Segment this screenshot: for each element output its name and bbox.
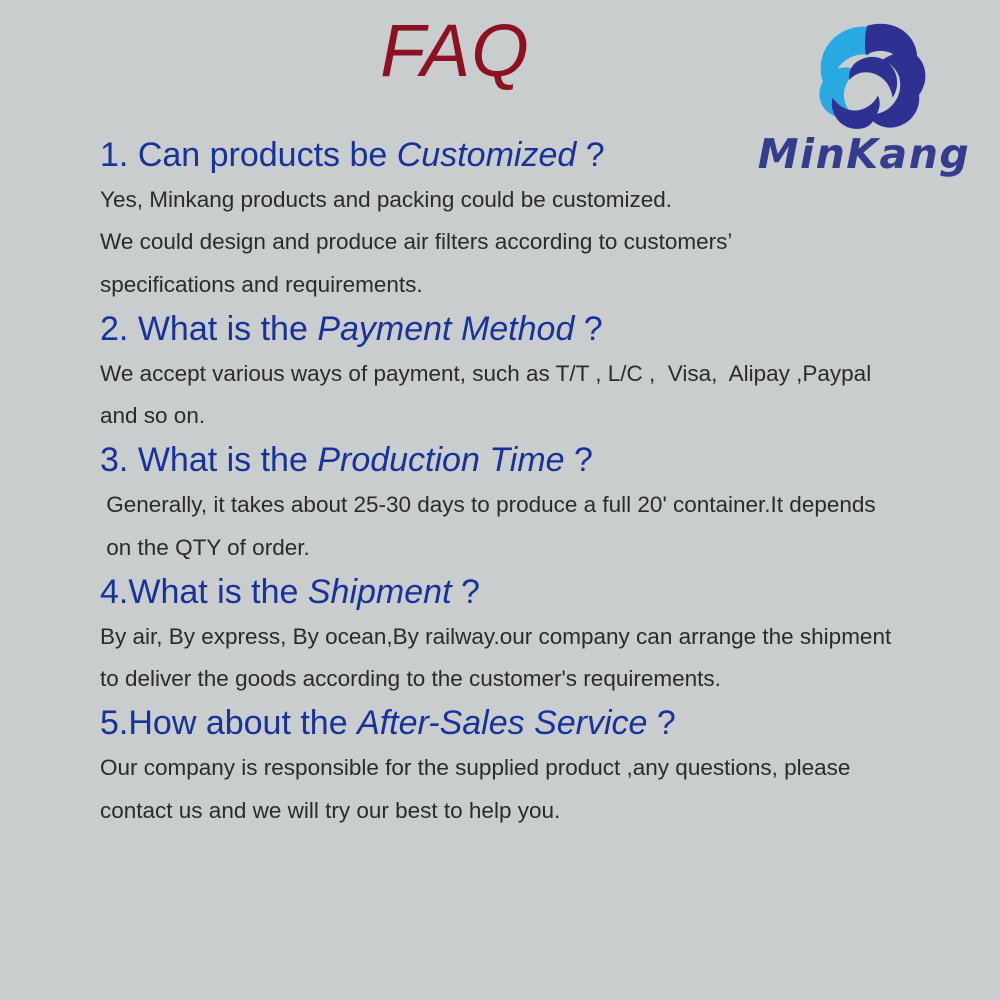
faq-number-3: 3. [100, 441, 138, 479]
faq-answer-1: Yes, Minkang products and packing could … [100, 179, 980, 306]
faq-question-tail-5: ? [647, 704, 675, 742]
faq-question-tail-2: ? [574, 310, 602, 348]
faq-question-4: 4.What is the Shipment ? [100, 569, 980, 616]
faq-item-5: 5.How about the After-Sales Service ? Ou… [100, 700, 980, 832]
page-header: FAQ MinKang [0, 0, 1000, 132]
faq-answer-3: Generally, it takes about 25-30 days to … [100, 484, 980, 569]
faq-answer-4: By air, By express, By ocean,By railway.… [100, 616, 980, 701]
faq-question-tail-4: ? [452, 573, 480, 611]
faq-question-tail-3: ? [565, 441, 593, 479]
faq-question-lead-1: Can products be [138, 136, 397, 174]
faq-number-2: 2. [100, 310, 138, 348]
faq-item-2: 2. What is the Payment Method ? We accep… [100, 306, 980, 438]
faq-question-1: 1. Can products be Customized ? [100, 132, 980, 179]
faq-question-emphasis-5: After-Sales Service [357, 704, 647, 742]
faq-number-1: 1. [100, 136, 138, 174]
faq-item-1: 1. Can products be Customized ? Yes, Min… [100, 132, 980, 306]
faq-content: 1. Can products be Customized ? Yes, Min… [100, 132, 980, 832]
faq-question-lead-2: What is the [138, 310, 318, 348]
faq-question-emphasis-4: Shipment [308, 573, 452, 611]
faq-question-lead-5: How about the [128, 704, 357, 742]
faq-question-tail-1: ? [576, 136, 604, 174]
faq-item-3: 3. What is the Production Time ? General… [100, 437, 980, 569]
faq-item-4: 4.What is the Shipment ? By air, By expr… [100, 569, 980, 701]
faq-question-emphasis-2: Payment Method [317, 310, 574, 348]
faq-number-4: 4. [100, 573, 128, 611]
minkang-swirl-logo-icon [810, 12, 928, 132]
faq-question-2: 2. What is the Payment Method ? [100, 306, 980, 353]
faq-question-emphasis-3: Production Time [317, 441, 564, 479]
faq-question-lead-3: What is the [138, 441, 318, 479]
faq-question-lead-4: What is the [128, 573, 308, 611]
faq-answer-5: Our company is responsible for the suppl… [100, 747, 980, 832]
faq-question-emphasis-1: Customized [397, 136, 577, 174]
faq-question-3: 3. What is the Production Time ? [100, 437, 980, 484]
faq-number-5: 5. [100, 704, 128, 742]
faq-page: FAQ MinKang [0, 0, 1000, 1000]
faq-question-5: 5.How about the After-Sales Service ? [100, 700, 980, 747]
faq-answer-2: We accept various ways of payment, such … [100, 353, 980, 438]
